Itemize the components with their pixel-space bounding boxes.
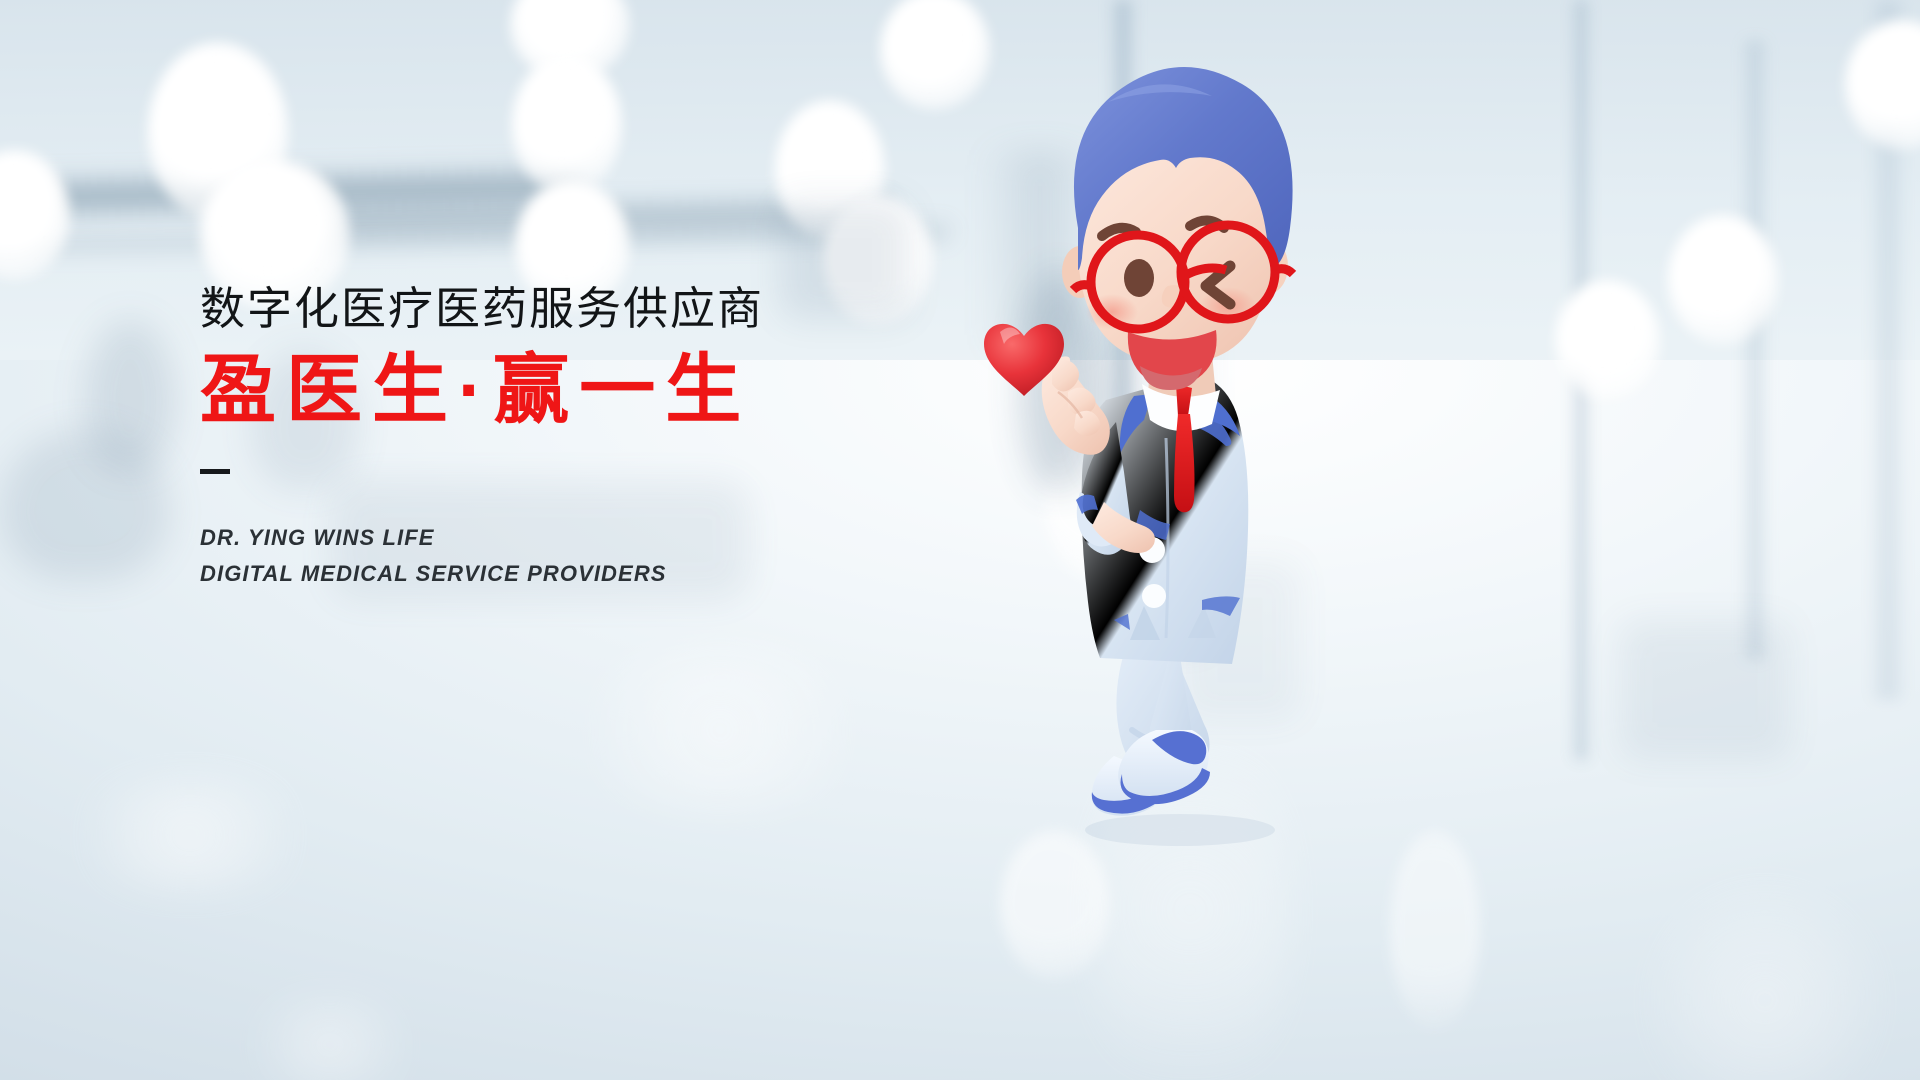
hero-english-line-2: DIGITAL MEDICAL SERVICE PROVIDERS — [200, 556, 1020, 592]
hero-english-line-1: DR. YING WINS LIFE — [200, 520, 1020, 556]
coat-button — [1142, 584, 1166, 608]
floor-reflection — [240, 1000, 420, 1080]
blurred-furniture — [1620, 620, 1790, 760]
hero-headline-cn: 盈医生·赢一生 — [200, 349, 1020, 433]
ceiling-light-bokeh — [1555, 280, 1660, 400]
window-mullion — [1740, 40, 1770, 660]
floor-reflection — [60, 780, 320, 890]
hero-english-block: DR. YING WINS LIFE DIGITAL MEDICAL SERVI… — [200, 520, 1020, 592]
hero-copy-block: 数字化医疗医药服务供应商 盈医生·赢一生 DR. YING WINS LIFE … — [200, 282, 1020, 591]
cartoon-doctor-character — [980, 40, 1400, 850]
eye-open — [1124, 259, 1154, 297]
floor-reflection — [560, 650, 880, 810]
hero-banner: 数字化医疗医药服务供应商 盈医生·赢一生 DR. YING WINS LIFE … — [0, 0, 1920, 1080]
hero-subtitle-cn: 数字化医疗医药服务供应商 — [200, 282, 1020, 335]
ceiling-light-bokeh — [512, 55, 622, 195]
head — [1062, 67, 1293, 390]
hand-finger-heart — [1042, 356, 1110, 454]
glasses-temple-right — [1275, 269, 1293, 274]
ceiling-light-bokeh — [1668, 215, 1778, 345]
blurred-person-silhouette — [0, 430, 170, 580]
character-shadow — [1085, 814, 1275, 846]
ceiling-light-bokeh — [1390, 830, 1480, 1030]
glasses-temple-left — [1073, 285, 1091, 290]
divider-dash — [200, 469, 230, 474]
